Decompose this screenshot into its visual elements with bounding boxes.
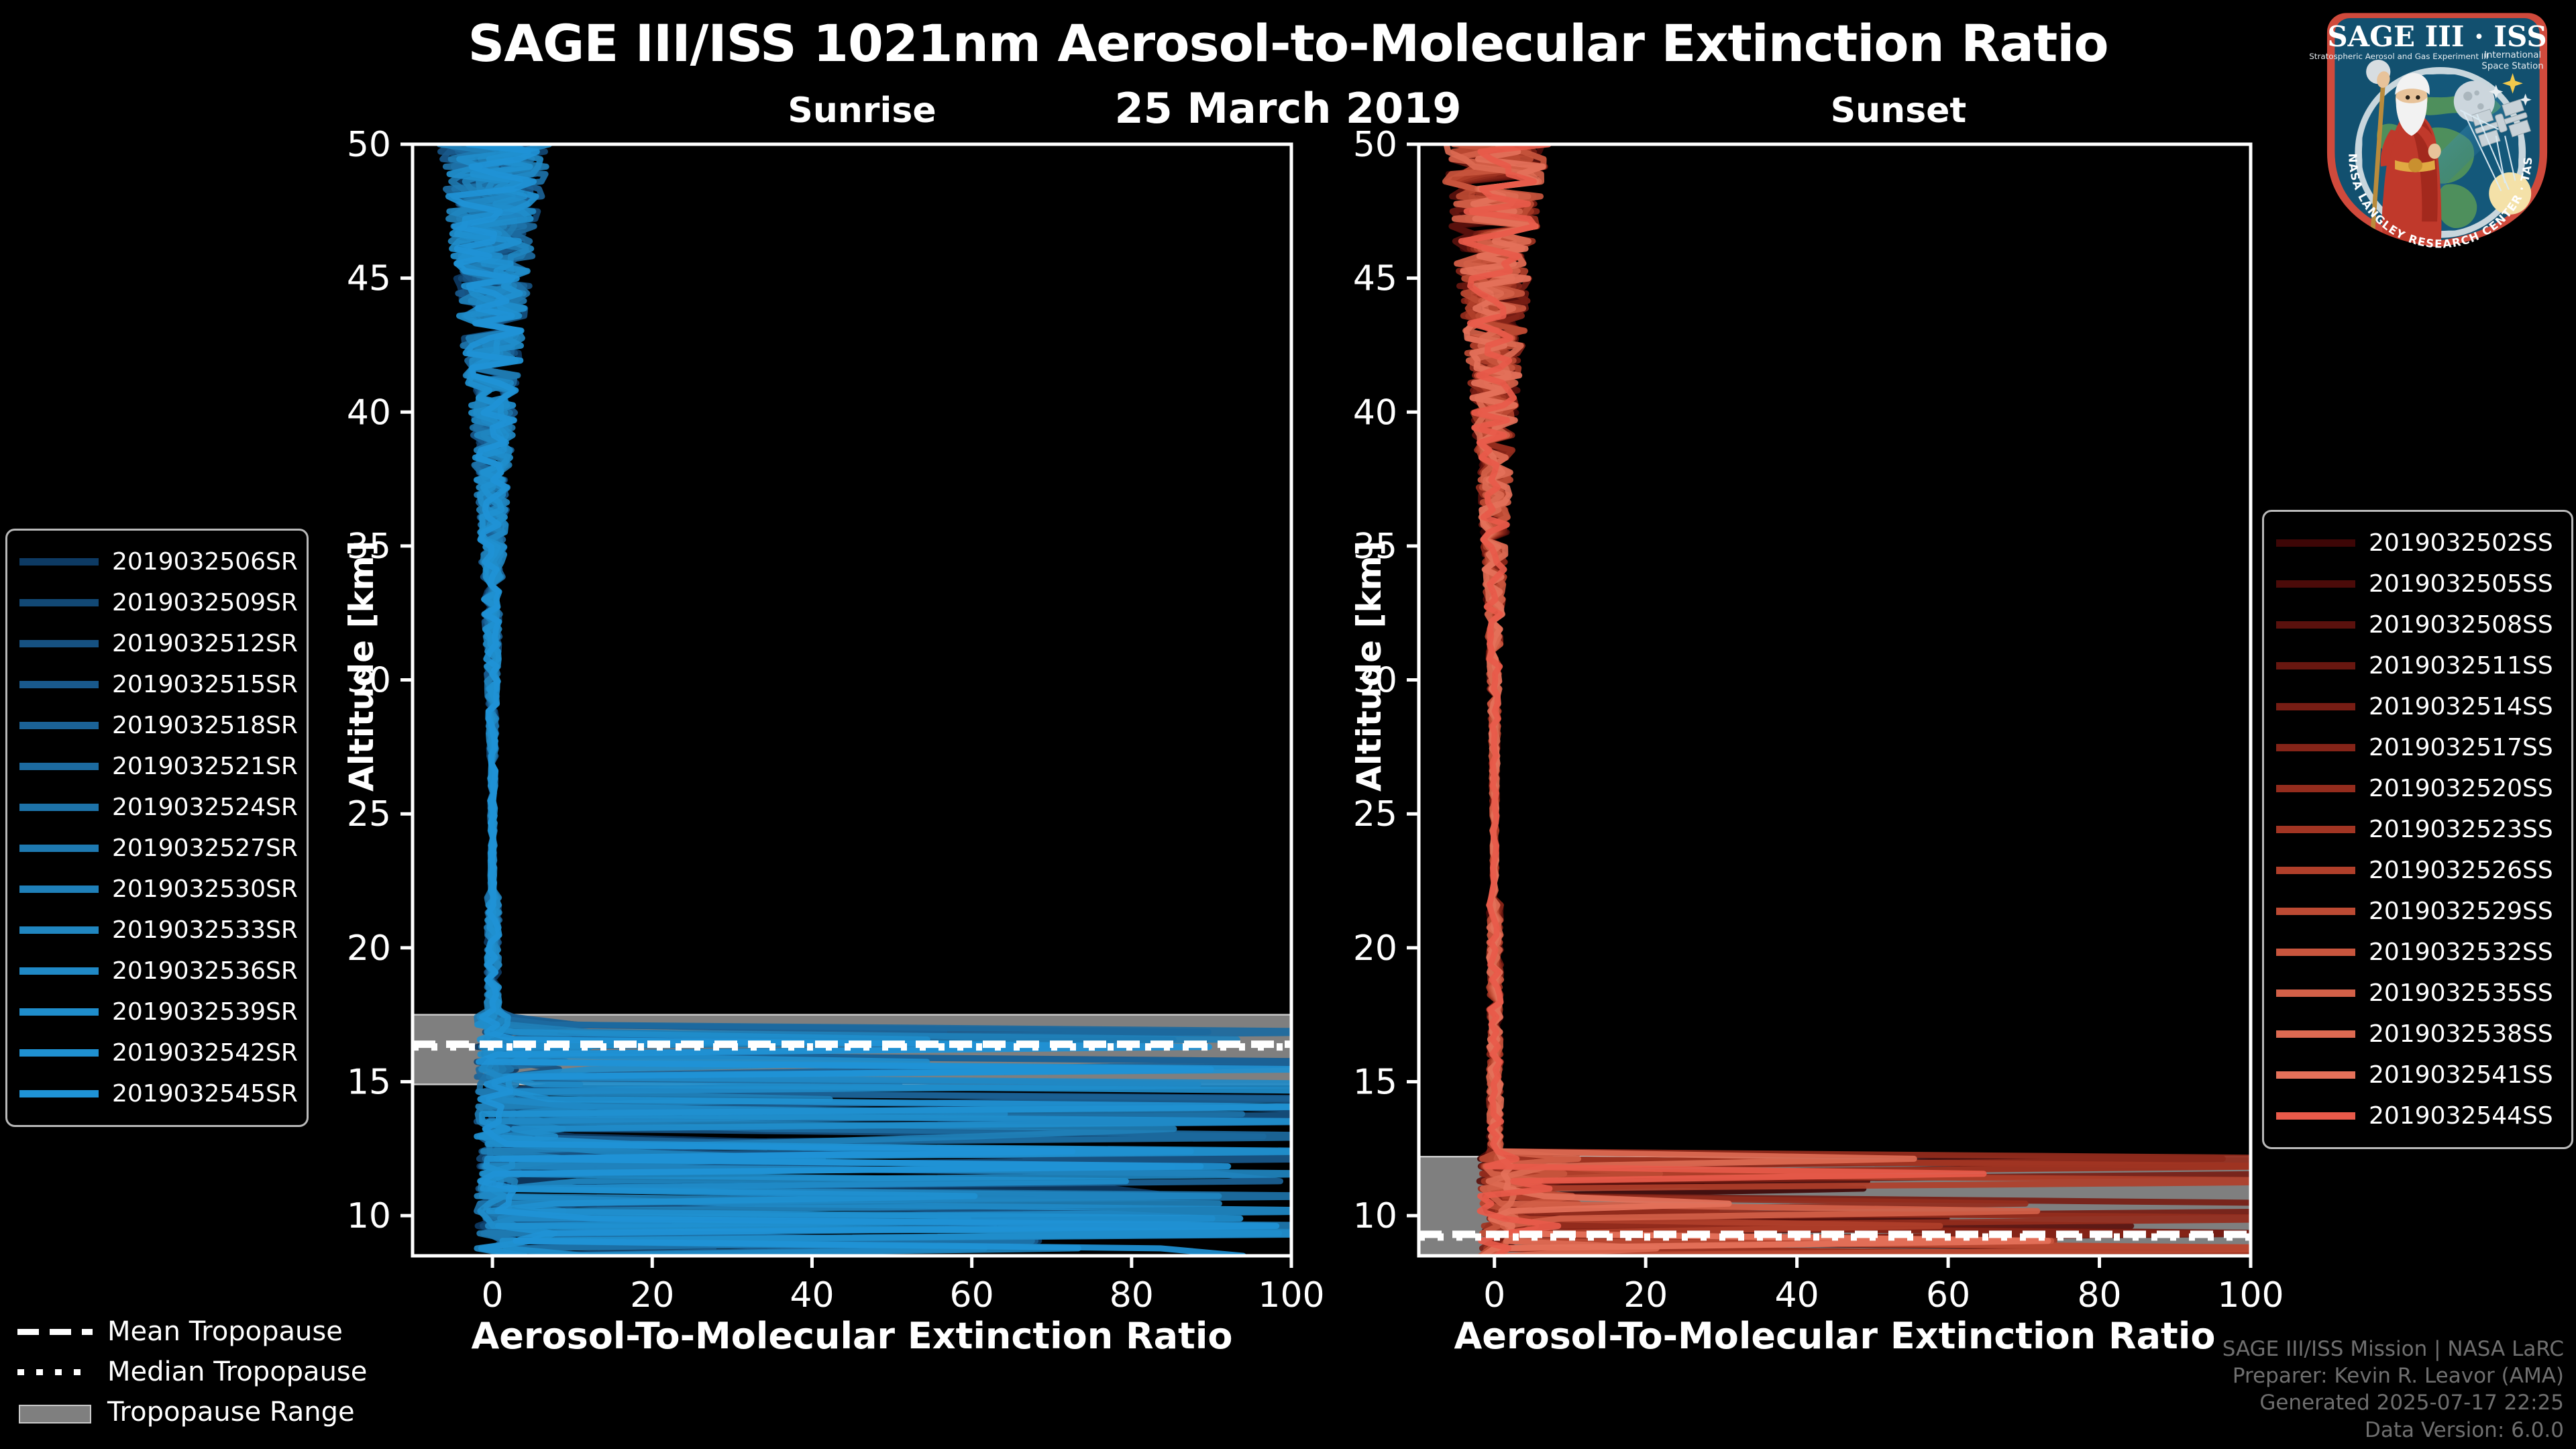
- legend-item-label: 2019032508SS: [2369, 611, 2553, 639]
- legend-item-label: 2019032538SS: [2369, 1020, 2553, 1048]
- legend-color-swatch: [2276, 703, 2355, 710]
- legend-item-label: 2019032532SS: [2369, 938, 2553, 966]
- logo-title: SAGE III · ISS: [2327, 20, 2546, 53]
- legend-color-swatch: [2276, 908, 2355, 915]
- legend-item[interactable]: 2019032544SS: [2276, 1095, 2557, 1136]
- legend-color-swatch: [2276, 580, 2355, 588]
- legend-item[interactable]: 2019032535SS: [2276, 973, 2557, 1014]
- legend-item-label: 2019032544SS: [2369, 1102, 2553, 1130]
- tropopause-legend-label: Median Tropopause: [107, 1356, 367, 1387]
- axes-frame: [1419, 144, 2251, 1256]
- yaxis-tick-label: 20: [347, 928, 391, 969]
- legend-color-swatch: [2276, 1112, 2355, 1120]
- legend-item-label: 2019032545SR: [112, 1080, 298, 1108]
- panel-sunset: 020406080100101520253035404550: [1353, 125, 2401, 1316]
- legend-item[interactable]: 2019032539SR: [19, 991, 292, 1032]
- legend-item-label: 2019032515SR: [112, 671, 298, 698]
- legend-item-label: 2019032529SS: [2369, 898, 2553, 925]
- xaxis-tick-label: 40: [1775, 1275, 1819, 1316]
- yaxis-tick-label: 20: [1353, 928, 1397, 969]
- legend-item[interactable]: 2019032524SR: [19, 787, 292, 828]
- credits-line: Preparer: Kevin R. Leavor (AMA): [2222, 1362, 2564, 1389]
- legend-item-label: 2019032526SS: [2369, 857, 2553, 884]
- xaxis-tick-label: 0: [1483, 1275, 1505, 1316]
- logo-subtitle-right-line2: Space Station: [2481, 61, 2543, 71]
- legend-color-swatch: [2276, 826, 2355, 833]
- legend-item[interactable]: 2019032532SS: [2276, 932, 2557, 973]
- legend-color-swatch: [19, 845, 99, 852]
- tropopause-legend-label: Tropopause Range: [107, 1397, 355, 1428]
- legend-item-label: 2019032535SS: [2369, 979, 2553, 1007]
- series-line: [1463, 144, 2048, 1256]
- legend-color-swatch: [2276, 539, 2355, 547]
- legend-item[interactable]: 2019032509SR: [19, 582, 292, 623]
- legend-color-swatch: [2276, 1030, 2355, 1038]
- xaxis-tick-label: 20: [630, 1275, 674, 1316]
- legend-color-swatch: [19, 722, 99, 729]
- legend-item[interactable]: 2019032515SR: [19, 664, 292, 705]
- legend-color-swatch: [2276, 989, 2355, 997]
- legend-item[interactable]: 2019032512SR: [19, 623, 292, 664]
- xaxis-label-left: Aerosol-To-Molecular Extinction Ratio: [413, 1315, 1291, 1357]
- legend-color-swatch: [2276, 785, 2355, 792]
- mean-marker-icon: [17, 1322, 93, 1342]
- credits-block: SAGE III/ISS Mission | NASA LaRCPreparer…: [2222, 1336, 2564, 1444]
- legend-item[interactable]: 2019032529SS: [2276, 891, 2557, 932]
- legend-color-swatch: [2276, 867, 2355, 874]
- xaxis-tick-label: 60: [950, 1275, 994, 1316]
- legend-item[interactable]: 2019032521SR: [19, 746, 292, 787]
- yaxis-tick-label: 10: [1353, 1196, 1397, 1236]
- legend-item[interactable]: 2019032506SR: [19, 541, 292, 582]
- legend-color-swatch: [19, 967, 99, 975]
- legend-color-swatch: [19, 1008, 99, 1016]
- tropopause-legend-item: Mean Tropopause: [17, 1311, 447, 1352]
- legend-color-swatch: [19, 804, 99, 811]
- legend-item-label: 2019032527SR: [112, 835, 298, 862]
- median-marker-icon: [17, 1362, 93, 1382]
- sage-iii-iss-logo: BALL · NASA LANGLEY RESEARCH CENTER · TA…: [2308, 4, 2567, 254]
- xaxis-label-right: Aerosol-To-Molecular Extinction Ratio: [1419, 1315, 2251, 1357]
- tropopause-legend-item: Median Tropopause: [17, 1352, 447, 1392]
- legend-item-label: 2019032514SS: [2369, 693, 2553, 720]
- series-line: [1453, 144, 2401, 1256]
- series-line: [1452, 144, 2223, 1256]
- series-line: [1446, 144, 2051, 1256]
- logo-subtitle-right-line1: International: [2484, 50, 2541, 60]
- yaxis-tick-label: 25: [1353, 794, 1397, 835]
- panel-sunrise: 020406080100101520253035404550: [347, 125, 1456, 1316]
- legend-color-swatch: [19, 558, 99, 566]
- yaxis-tick-label: 25: [347, 794, 391, 835]
- legend-color-swatch: [19, 599, 99, 606]
- legend-color-swatch: [2276, 744, 2355, 751]
- yaxis-label-right: Altitude [km]: [1350, 540, 1389, 792]
- yaxis-tick-label: 15: [347, 1062, 391, 1102]
- series-line: [1460, 144, 2367, 1256]
- legend-item[interactable]: 2019032508SS: [2276, 604, 2557, 645]
- yaxis-tick-label: 15: [1353, 1062, 1397, 1102]
- xaxis-tick-label: 40: [790, 1275, 834, 1316]
- legend-color-swatch: [2276, 662, 2355, 669]
- series-line: [1452, 144, 2131, 1256]
- legend-item-label: 2019032536SR: [112, 957, 298, 985]
- legend-item-label: 2019032505SS: [2369, 570, 2553, 598]
- legend-color-swatch: [19, 926, 99, 934]
- credits-line: Generated 2025-07-17 22:25: [2222, 1389, 2564, 1416]
- legend-item-label: 2019032523SS: [2369, 816, 2553, 843]
- xaxis-tick-label: 60: [1926, 1275, 1970, 1316]
- legend-color-swatch: [19, 681, 99, 688]
- series-line: [1458, 144, 2192, 1256]
- legend-item[interactable]: 2019032527SR: [19, 828, 292, 869]
- yaxis-tick-label: 45: [347, 259, 391, 299]
- legend-color-swatch: [2276, 621, 2355, 629]
- legend-item[interactable]: 2019032502SS: [2276, 523, 2557, 563]
- legend-sunset[interactable]: 2019032502SS2019032505SS2019032508SS2019…: [2262, 510, 2573, 1149]
- legend-color-swatch: [2276, 1071, 2355, 1079]
- yaxis-tick-label: 50: [1353, 125, 1397, 165]
- legend-color-swatch: [19, 640, 99, 647]
- legend-item[interactable]: 2019032505SS: [2276, 563, 2557, 604]
- xaxis-tick-label: 100: [2217, 1275, 2284, 1316]
- legend-item-label: 2019032530SR: [112, 875, 298, 903]
- legend-item[interactable]: 2019032517SS: [2276, 727, 2557, 768]
- range-marker-icon: [17, 1402, 93, 1422]
- yaxis-tick-label: 40: [1353, 392, 1397, 433]
- series-line: [1451, 144, 2310, 1256]
- legend-item[interactable]: 2019032526SS: [2276, 850, 2557, 891]
- yaxis-tick-label: 50: [347, 125, 391, 165]
- xaxis-tick-label: 100: [1258, 1275, 1324, 1316]
- legend-item-label: 2019032542SR: [112, 1039, 298, 1067]
- legend-item[interactable]: 2019032541SS: [2276, 1055, 2557, 1095]
- legend-item-label: 2019032518SR: [112, 712, 298, 739]
- legend-item-label: 2019032541SS: [2369, 1061, 2553, 1089]
- series-line: [1448, 144, 2330, 1256]
- tropopause-legend-item: Tropopause Range: [17, 1392, 447, 1432]
- credits-line: SAGE III/ISS Mission | NASA LaRC: [2222, 1336, 2564, 1362]
- series-line: [1452, 144, 2037, 1256]
- legend-item[interactable]: 2019032511SS: [2276, 645, 2557, 686]
- legend-color-swatch: [19, 763, 99, 770]
- legend-item[interactable]: 2019032523SS: [2276, 809, 2557, 850]
- legend-item[interactable]: 2019032530SR: [19, 869, 292, 910]
- xaxis-tick-label: 80: [1110, 1275, 1154, 1316]
- legend-item-label: 2019032502SS: [2369, 529, 2553, 557]
- legend-item-label: 2019032521SR: [112, 753, 298, 780]
- legend-item[interactable]: 2019032520SS: [2276, 768, 2557, 809]
- yaxis-tick-label: 10: [347, 1196, 391, 1236]
- legend-item-label: 2019032517SS: [2369, 734, 2553, 761]
- yaxis-tick-label: 40: [347, 392, 391, 433]
- series-line: [1461, 144, 1984, 1256]
- legend-color-swatch: [19, 885, 99, 893]
- series-line: [1448, 144, 2378, 1256]
- xaxis-tick-label: 0: [482, 1275, 504, 1316]
- legend-item-label: 2019032506SR: [112, 548, 298, 576]
- xaxis-tick-label: 80: [2077, 1275, 2121, 1316]
- yaxis-label-left: Altitude [km]: [342, 540, 381, 792]
- legend-item[interactable]: 2019032542SR: [19, 1032, 292, 1073]
- legend-item-label: 2019032511SS: [2369, 652, 2553, 680]
- legend-item[interactable]: 2019032545SR: [19, 1073, 292, 1114]
- chart-canvas: 0204060801001015202530354045500204060801…: [0, 0, 2576, 1449]
- legend-item[interactable]: 2019032538SS: [2276, 1014, 2557, 1055]
- legend-item-label: 2019032509SR: [112, 589, 298, 616]
- legend-sunrise[interactable]: 2019032506SR2019032509SR2019032512SR2019…: [5, 529, 309, 1127]
- legend-item[interactable]: 2019032533SR: [19, 910, 292, 951]
- legend-item-label: 2019032524SR: [112, 794, 298, 821]
- legend-item[interactable]: 2019032518SR: [19, 705, 292, 746]
- legend-item[interactable]: 2019032536SR: [19, 951, 292, 991]
- yaxis-tick-label: 45: [1353, 259, 1397, 299]
- legend-item-label: 2019032520SS: [2369, 775, 2553, 802]
- tropopause-legend: Mean TropopauseMedian TropopauseTropopau…: [17, 1311, 447, 1432]
- legend-color-swatch: [19, 1049, 99, 1057]
- logo-subtitle-left: Stratospheric Aerosol and Gas Experiment…: [2309, 52, 2488, 61]
- legend-item-label: 2019032539SR: [112, 998, 298, 1026]
- xaxis-tick-label: 20: [1623, 1275, 1668, 1316]
- legend-color-swatch: [19, 1090, 99, 1097]
- legend-item-label: 2019032512SR: [112, 630, 298, 657]
- tropopause-legend-label: Mean Tropopause: [107, 1316, 343, 1347]
- legend-color-swatch: [2276, 949, 2355, 956]
- legend-item-label: 2019032533SR: [112, 916, 298, 944]
- credits-line: Data Version: 6.0.0: [2222, 1417, 2564, 1444]
- legend-item[interactable]: 2019032514SS: [2276, 686, 2557, 727]
